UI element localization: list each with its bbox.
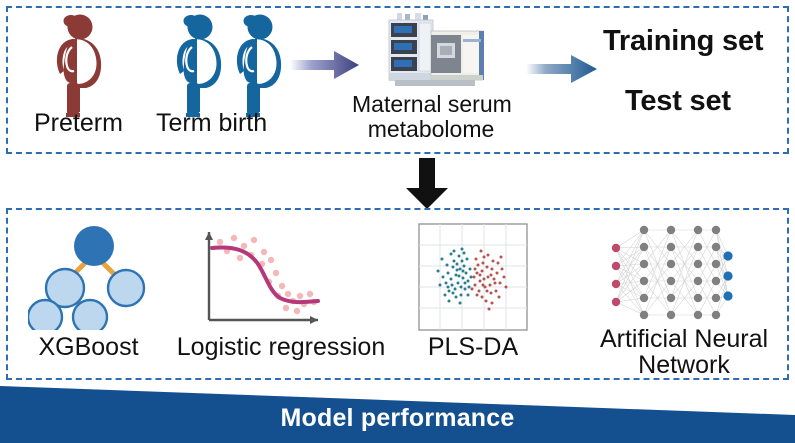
test-set-label: Test set (625, 86, 731, 117)
sigmoid-curve-icon (196, 224, 324, 335)
plsda-label: PLS-DA (408, 334, 538, 361)
lc-ms-instrument-icon (371, 13, 491, 96)
instrument-label-line1: Maternal serum (352, 92, 510, 117)
logistic-regression-label: Logistic regression (166, 334, 396, 361)
model-performance-banner (0, 378, 795, 443)
ann-label-line2: Network (586, 352, 782, 379)
decision-tree-icon (28, 222, 148, 335)
term-birth-pregnant-woman-icon-2 (222, 14, 294, 123)
right-arrow-icon-2 (524, 53, 600, 90)
down-arrow-icon (403, 158, 451, 215)
instrument-label-line2: metabolome (352, 117, 510, 142)
preterm-pregnant-woman-icon (42, 14, 114, 123)
neural-network-icon (606, 224, 734, 329)
preterm-label: Preterm (34, 110, 123, 137)
training-set-label: Training set (603, 26, 763, 57)
ann-label-line1: Artificial Neural (586, 326, 782, 353)
xgboost-label: XGBoost (16, 334, 161, 361)
term-birth-label: Term birth (156, 110, 267, 137)
scatter-cluster-icon (418, 223, 528, 336)
right-arrow-icon-1 (288, 48, 362, 87)
workflow-figure: Preterm (0, 0, 795, 443)
